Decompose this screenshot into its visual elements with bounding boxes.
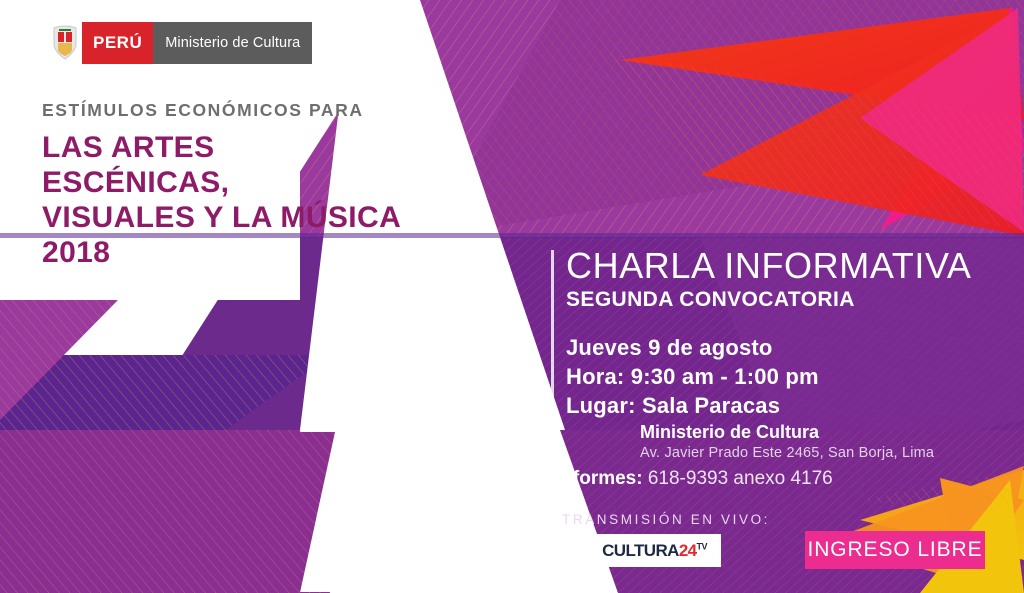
free-admission-label: INGRESO LIBRE <box>807 538 982 562</box>
informes-label: Informes: <box>556 468 643 489</box>
event-venue: Ministerio de Cultura <box>640 421 996 444</box>
vertical-divider <box>551 250 554 458</box>
event-date: Jueves 9 de agosto <box>566 333 996 362</box>
ministry-logo: PERÚ Ministerio de Cultura <box>48 22 312 64</box>
poster-canvas: PERÚ Ministerio de Cultura ESTÍMULOS ECO… <box>0 0 1024 593</box>
headline-block: ESTÍMULOS ECONÓMICOS PARA LAS ARTES ESCÉ… <box>42 100 402 270</box>
event-info-block: CHARLA INFORMATIVA SEGUNDA CONVOCATORIA … <box>566 247 996 463</box>
cultura24-word: CULTURA <box>602 541 679 560</box>
event-time: Hora: 9:30 am - 1:00 pm <box>566 362 996 391</box>
headline-line-3: 2018 <box>42 235 402 270</box>
cultura24-logo: CULTURA24TV <box>588 534 721 567</box>
event-title: CHARLA INFORMATIVA <box>566 247 996 285</box>
event-subtitle: SEGUNDA CONVOCATORIA <box>566 288 996 311</box>
cultura24-number: 24 <box>679 541 697 560</box>
event-address: Av. Javier Prado Este 2465, San Borja, L… <box>640 444 996 463</box>
cultura24-tv: TV <box>697 541 707 551</box>
informes-value: 618-9393 anexo 4176 <box>648 468 833 489</box>
logo-peru-label: PERÚ <box>82 22 153 64</box>
logo-ministry-label: Ministerio de Cultura <box>153 22 312 64</box>
informes-line: Informes: 618-9393 anexo 4176 <box>556 468 833 491</box>
peru-coat-of-arms-icon <box>48 22 82 64</box>
headline-kicker: ESTÍMULOS ECONÓMICOS PARA <box>42 100 402 121</box>
live-broadcast-label: TRANSMISIÓN EN VIVO: <box>562 512 770 527</box>
headline-line-2: VISUALES Y LA MÚSICA <box>42 200 402 235</box>
free-admission-banner: INGRESO LIBRE <box>805 531 985 569</box>
event-place: Lugar: Sala Paracas <box>566 391 996 420</box>
headline-line-1: LAS ARTES ESCÉNICAS, <box>42 130 402 200</box>
